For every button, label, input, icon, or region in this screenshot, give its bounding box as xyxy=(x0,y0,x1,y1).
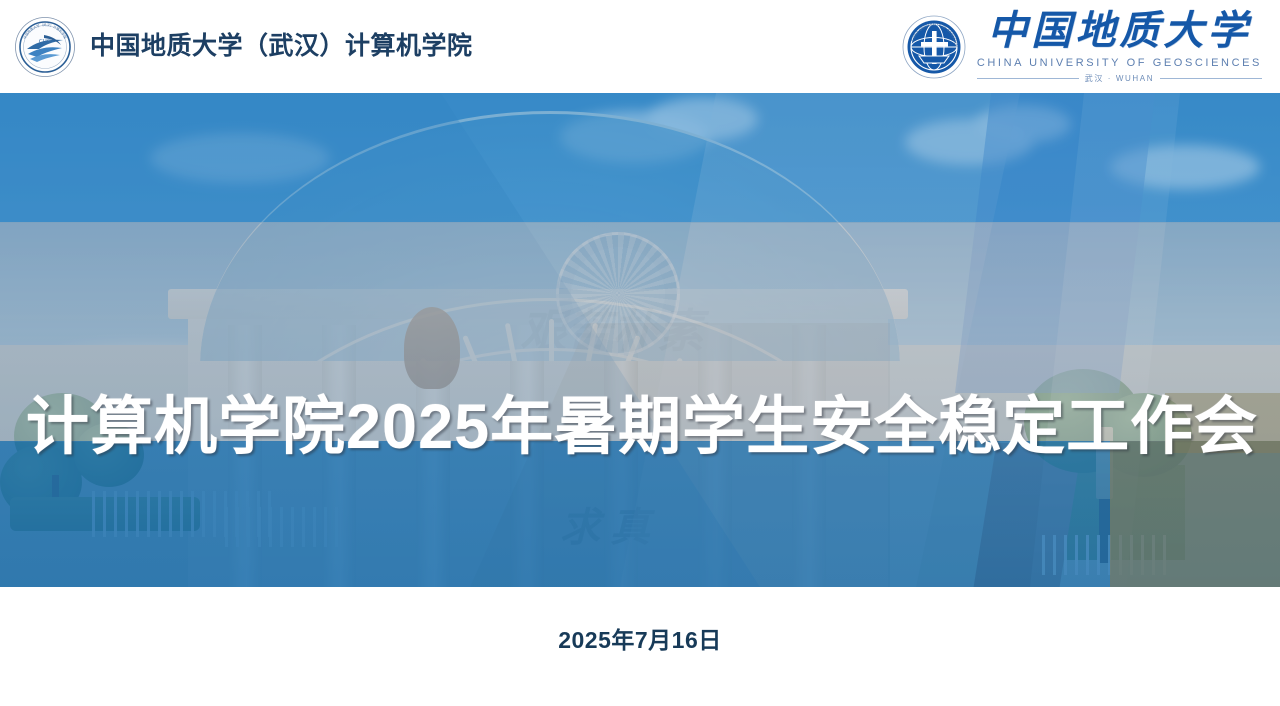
svg-text:CUG: CUG xyxy=(39,39,51,45)
cug-computer-school-badge-icon: CUG 中国地质大学（武汉）计算机学院 xyxy=(14,16,76,78)
dome-drum xyxy=(404,307,460,389)
header-left-group: CUG 中国地质大学（武汉）计算机学院 中国地质大学（武汉）计算机学院 xyxy=(14,16,473,78)
university-logo-lockup: CHINA UNIVERSITY OF GEOSCIENCES 中国地质大学 C… xyxy=(901,9,1262,84)
campus-building-photo: 艰苦朴素 求 真 xyxy=(0,93,1280,587)
wordmark-subline: 武汉 · WUHAN xyxy=(977,73,1262,84)
wordmark-chinese: 中国地质大学 xyxy=(987,11,1251,51)
cloud-shape xyxy=(1110,145,1260,189)
glass-dome xyxy=(200,111,900,361)
dome-emblem xyxy=(556,232,680,356)
wordmark-english: CHINA UNIVERSITY OF GEOSCIENCES xyxy=(977,57,1262,69)
banner-title: 计算机学院2025年暑期学生安全稳定工作会 xyxy=(26,393,1256,461)
header-title: 中国地质大学（武汉）计算机学院 xyxy=(90,34,473,59)
cug-globe-seal-icon: CHINA UNIVERSITY OF GEOSCIENCES xyxy=(901,12,967,82)
wall-inscription: 求 真 xyxy=(560,495,650,553)
hero-banner: 艰苦朴素 求 真 xyxy=(0,93,1280,587)
railing xyxy=(225,507,345,547)
railing xyxy=(1042,535,1172,575)
slide-header: CUG 中国地质大学（武汉）计算机学院 中国地质大学（武汉）计算机学院 xyxy=(0,0,1280,93)
dome-shell xyxy=(200,111,900,361)
event-date: 2025年7月16日 xyxy=(0,621,1280,655)
wordmark-city: 武汉 · WUHAN xyxy=(1085,73,1154,84)
university-wordmark: 中国地质大学 CHINA UNIVERSITY OF GEOSCIENCES 武… xyxy=(977,9,1262,84)
rule-right xyxy=(1160,78,1262,79)
cloud-shape xyxy=(975,105,1071,143)
rule-left xyxy=(977,78,1079,79)
presentation-slide: CUG 中国地质大学（武汉）计算机学院 中国地质大学（武汉）计算机学院 xyxy=(0,0,1280,706)
